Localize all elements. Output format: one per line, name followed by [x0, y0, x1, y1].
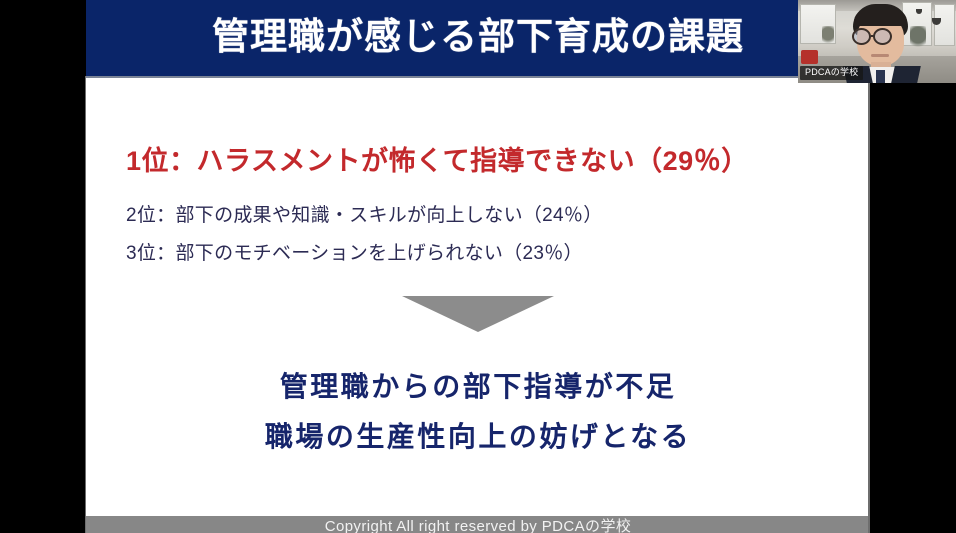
- down-triangle-icon: [402, 296, 554, 332]
- conclusion-block: 管理職からの部下指導が不足 職場の生産性向上の妨げとなる: [86, 362, 870, 462]
- presenter-tie: [876, 70, 885, 83]
- presentation-viewport: 管理職が感じる部下育成の課題 1位：ハラスメントが怖くて指導できない（29％） …: [0, 0, 956, 533]
- red-chair: [801, 50, 818, 64]
- presenter-fringe: [854, 10, 907, 26]
- webcam-video-tile[interactable]: PDCAの学校: [798, 0, 956, 83]
- slide-footer-bar: Copyright All right reserved by PDCAの学校: [86, 516, 870, 533]
- right-letterbox: [870, 83, 956, 533]
- glasses-lens-left-icon: [852, 28, 871, 45]
- slide-canvas: 管理職が感じる部下育成の課題 1位：ハラスメントが怖くて指導できない（29％） …: [86, 0, 870, 533]
- conclusion-line-2: 職場の生産性向上の妨げとなる: [86, 412, 870, 462]
- ranking-item-3: 3位：部下のモチベーションを上げられない（23％）: [126, 236, 836, 273]
- conclusion-line-1: 管理職からの部下指導が不足: [86, 362, 870, 412]
- left-letterbox: [0, 0, 86, 533]
- copyright-text: Copyright All right reserved by PDCAの学校: [86, 516, 870, 533]
- glasses-bridge-icon: [871, 35, 875, 37]
- office-window-far-right: [934, 4, 955, 46]
- glasses-lens-right-icon: [873, 28, 892, 45]
- presenter-mouth: [871, 54, 889, 57]
- ranking-item-1: 1位：ハラスメントが怖くて指導できない（29％）: [126, 142, 836, 184]
- ranking-item-2: 2位：部下の成果や知識・スキルが向上しない（24％）: [126, 198, 836, 235]
- slide-title-bar: 管理職が感じる部下育成の課題: [86, 0, 870, 76]
- office-plant: [822, 26, 834, 48]
- participant-name-label: PDCAの学校: [800, 66, 863, 80]
- title-underline: [86, 76, 870, 78]
- arrow-container: [86, 296, 870, 332]
- ranking-list: 1位：ハラスメントが怖くて指導できない（29％） 2位：部下の成果や知識・スキル…: [126, 142, 836, 273]
- slide-title: 管理職が感じる部下育成の課題: [86, 0, 870, 76]
- slide-left-border: [85, 76, 86, 533]
- presenter-jacket-right: [891, 66, 921, 83]
